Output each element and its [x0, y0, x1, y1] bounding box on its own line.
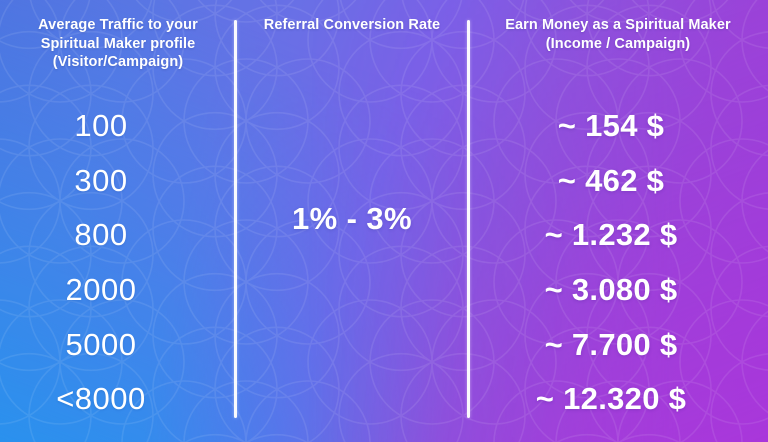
column-traffic-header: Average Traffic to your Spiritual Maker … — [38, 16, 198, 72]
income-value-row: ~ 1.232 $ — [468, 208, 768, 263]
infographic-canvas: Average Traffic to your Spiritual Maker … — [0, 0, 768, 442]
column-traffic: Average Traffic to your Spiritual Maker … — [0, 0, 236, 442]
traffic-value-row: 800 — [0, 208, 236, 263]
traffic-value-row: <8000 — [0, 372, 236, 427]
income-value-row: ~ 12.320 $ — [468, 372, 768, 427]
income-value-row: ~ 7.700 $ — [468, 317, 768, 372]
comparison-table: Average Traffic to your Spiritual Maker … — [0, 0, 768, 442]
traffic-value-row: 100 — [0, 99, 236, 154]
income-value-row: ~ 3.080 $ — [468, 263, 768, 318]
conversion-rate-value: 1% - 3% — [236, 0, 468, 442]
income-value-row: ~ 154 $ — [468, 99, 768, 154]
column-traffic-values: 100 300 800 2000 5000 <8000 — [0, 99, 236, 427]
traffic-value-row: 5000 — [0, 317, 236, 372]
income-value-row: ~ 462 $ — [468, 154, 768, 209]
traffic-value-row: 300 — [0, 154, 236, 209]
column-income: Earn Money as a Spiritual Maker (Income … — [468, 0, 768, 442]
column-conversion-rate: Referral Conversion Rate 1% - 3% — [236, 0, 468, 442]
column-income-header: Earn Money as a Spiritual Maker (Income … — [505, 16, 731, 53]
column-income-values: ~ 154 $ ~ 462 $ ~ 1.232 $ ~ 3.080 $ ~ 7.… — [468, 99, 768, 427]
traffic-value-row: 2000 — [0, 263, 236, 318]
